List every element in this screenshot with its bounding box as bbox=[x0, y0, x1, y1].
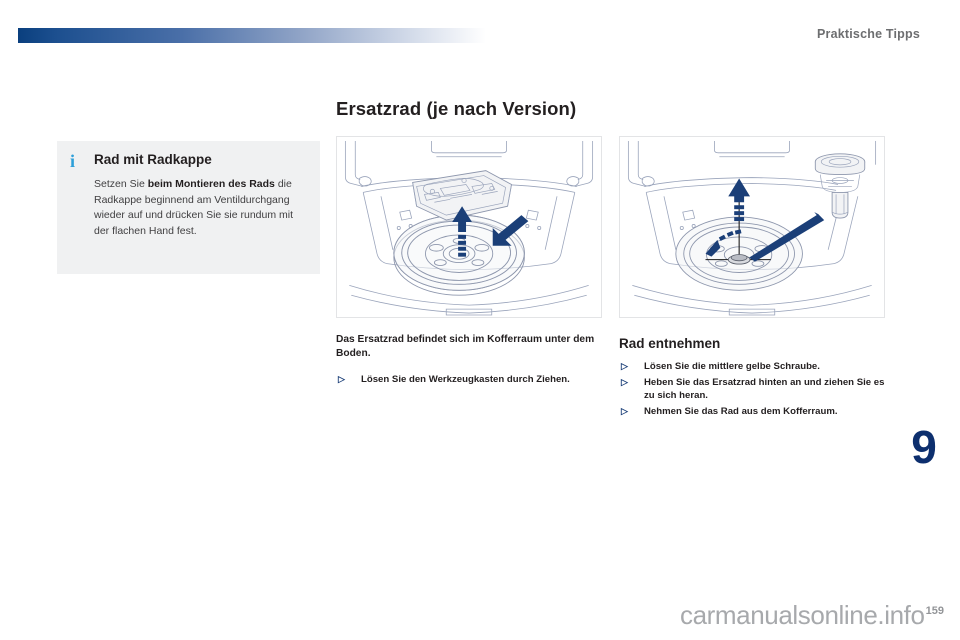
info-box: i Rad mit Radkappe Setzen Sie beim Monti… bbox=[57, 141, 320, 274]
right-column-text: Rad entnehmen ▷ Lösen Sie die mittlere g… bbox=[619, 336, 885, 421]
list-item: ▷ Nehmen Sie das Rad aus dem Kofferraum. bbox=[619, 405, 885, 418]
section-heading: Rad entnehmen bbox=[619, 336, 885, 351]
page-number: 159 bbox=[926, 605, 944, 617]
right-bullet-list: ▷ Lösen Sie die mittlere gelbe Schraube.… bbox=[619, 360, 885, 418]
arrow-bullet-icon: ▷ bbox=[621, 406, 632, 416]
middle-column-text: Das Ersatzrad befindet sich im Kofferrau… bbox=[336, 333, 602, 389]
arrow-bullet-icon: ▷ bbox=[338, 374, 349, 384]
list-item: ▷ Lösen Sie die mittlere gelbe Schraube. bbox=[619, 360, 885, 373]
list-item-label: Nehmen Sie das Rad aus dem Kofferraum. bbox=[644, 406, 838, 417]
chapter-title: Praktische Tipps bbox=[817, 27, 920, 41]
info-icon: i bbox=[70, 152, 75, 170]
middle-bullet-list: ▷ Lösen Sie den Werkzeugkasten durch Zie… bbox=[336, 373, 602, 386]
page-title: Ersatzrad (je nach Version) bbox=[336, 98, 576, 120]
list-item-label: Heben Sie das Ersatzrad hinten an und zi… bbox=[644, 377, 884, 401]
trunk-spare-wheel-bolt-removal-figure bbox=[619, 136, 885, 318]
list-item: ▷ Heben Sie das Ersatzrad hinten an und … bbox=[619, 376, 885, 402]
trunk-spare-wheel-with-tool-tray-figure bbox=[336, 136, 602, 318]
list-item-label: Lösen Sie die mittlere gelbe Schraube. bbox=[644, 361, 820, 372]
middle-lead-text: Das Ersatzrad befindet sich im Kofferrau… bbox=[336, 333, 602, 361]
arrow-bullet-icon: ▷ bbox=[621, 377, 632, 387]
manual-page: Praktische Tipps Ersatzrad (je nach Vers… bbox=[0, 0, 960, 640]
info-box-heading: Rad mit Radkappe bbox=[94, 152, 212, 167]
chapter-number-tab: 9 bbox=[901, 424, 947, 470]
header-gradient-bar bbox=[18, 28, 486, 43]
list-item: ▷ Lösen Sie den Werkzeugkasten durch Zie… bbox=[336, 373, 602, 386]
info-body-prefix: Setzen Sie bbox=[94, 178, 148, 190]
site-watermark: carmanualsonline.info bbox=[680, 600, 925, 631]
arrow-bullet-icon: ▷ bbox=[621, 361, 632, 371]
info-body-bold: beim Montieren des Rads bbox=[148, 178, 275, 190]
info-box-body: Setzen Sie beim Montieren des Rads die R… bbox=[94, 177, 308, 239]
list-item-label: Lösen Sie den Werkzeugkasten durch Ziehe… bbox=[361, 374, 570, 385]
